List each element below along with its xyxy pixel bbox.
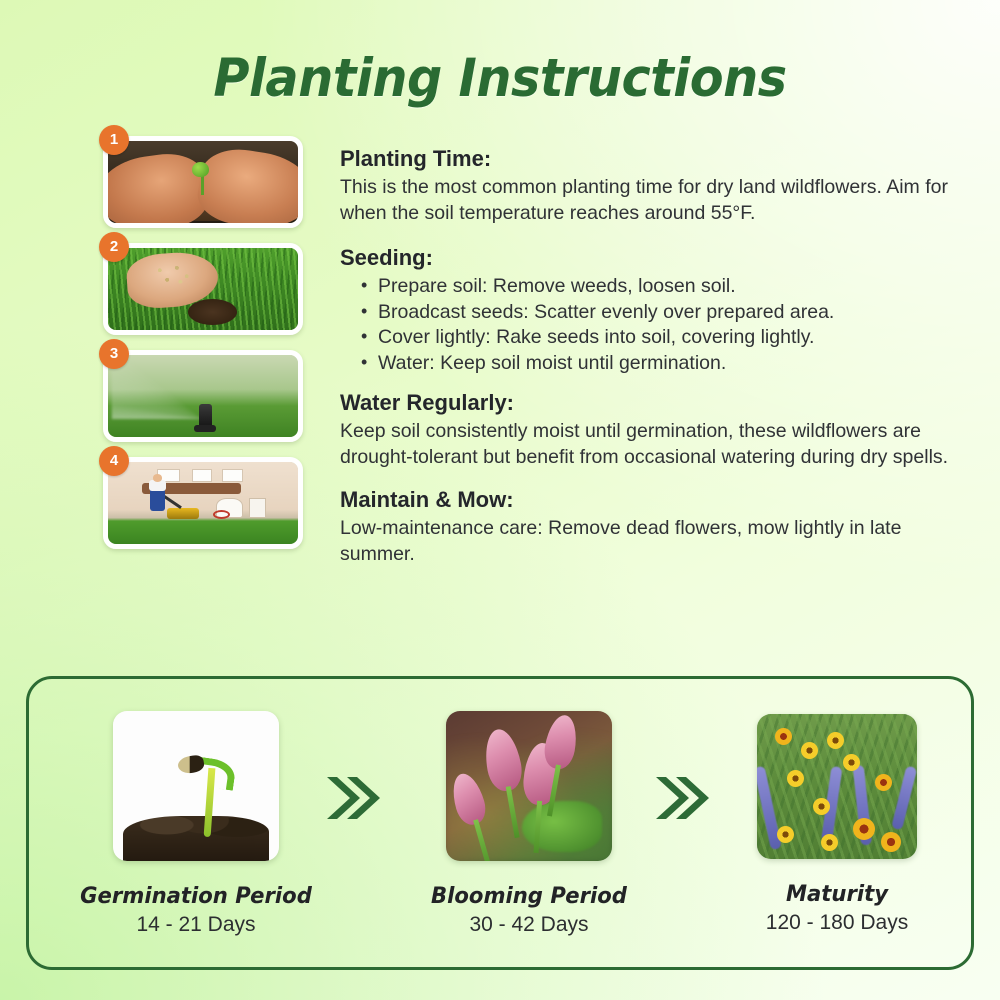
step-thumbnail-2: 2 [103, 243, 303, 335]
step-number-badge-3: 3 [99, 339, 129, 369]
person-mowing-lawn-by-house-image [103, 457, 303, 549]
step-thumbnail-column: 1 2 3 [103, 136, 313, 564]
step-body-1: This is the most common planting time fo… [340, 175, 950, 226]
timeline-label-blooming: Blooming Period [388, 883, 670, 909]
mowing-art [108, 462, 298, 544]
hands-holding-soil-with-sprout-image [103, 136, 303, 228]
step-section-planting-time: Planting Time: This is the most common p… [340, 144, 950, 226]
step-number-badge-2: 2 [99, 232, 129, 262]
steps-section: 1 2 3 [0, 136, 1000, 656]
step-section-maintain-mow: Maintain & Mow: Low-maintenance care: Re… [340, 485, 950, 567]
step-body-4: Low-maintenance care: Remove dead flower… [340, 516, 950, 567]
lawn-sprinkler-watering-image [103, 350, 303, 442]
step-section-seeding: Seeding: Prepare soil: Remove weeds, loo… [340, 243, 950, 376]
step-thumbnail-4: 4 [103, 457, 303, 549]
seeding-bullet-list: Prepare soil: Remove weeds, loosen soil.… [340, 274, 950, 376]
page-title: Planting Instructions [35, 48, 965, 110]
sprinkler-art [108, 355, 298, 437]
step-thumbnail-3: 3 [103, 350, 303, 442]
list-item: Broadcast seeds: Scatter evenly over pre… [378, 300, 950, 326]
step-section-water-regularly: Water Regularly: Keep soil consistently … [340, 388, 950, 470]
pink-lotus-flower-buds-image [446, 711, 612, 861]
mature-wildflower-meadow-image [757, 714, 917, 859]
timeline-duration-maturity: 120 - 180 Days [697, 911, 977, 935]
timeline-label-maturity: Maturity [705, 881, 968, 907]
planting-instructions-infographic: Planting Instructions 1 2 [0, 0, 1000, 1000]
list-item: Water: Keep soil moist until germination… [378, 351, 950, 377]
step-heading-4: Maintain & Mow: [340, 485, 950, 515]
step-heading-1: Planting Time: [340, 144, 950, 174]
timeline-stage-germination: Germination Period 14 - 21 Days [46, 711, 346, 937]
list-item: Prepare soil: Remove weeds, loosen soil. [378, 274, 950, 300]
hand-broadcasting-seeds-over-grass-image [103, 243, 303, 335]
double-chevron-right-icon [322, 769, 382, 827]
step-heading-3: Water Regularly: [340, 388, 950, 418]
timeline-label-germination: Germination Period [55, 883, 337, 909]
step-thumbnail-1: 1 [103, 136, 303, 228]
timeline-duration-germination: 14 - 21 Days [46, 913, 346, 937]
germinating-seed-sprout-image [113, 711, 279, 861]
growth-timeline-panel: Germination Period 14 - 21 Days Blooming… [26, 676, 974, 970]
step-heading-2: Seeding: [340, 243, 950, 273]
list-item: Cover lightly: Rake seeds into soil, cov… [378, 325, 950, 351]
step-number-badge-1: 1 [99, 125, 129, 155]
step-number-badge-4: 4 [99, 446, 129, 476]
timeline-stage-blooming: Blooming Period 30 - 42 Days [379, 711, 679, 937]
timeline-stage-maturity: Maturity 120 - 180 Days [697, 714, 977, 935]
seeding-art [108, 248, 298, 330]
hands-soil-art [108, 141, 298, 223]
step-body-3: Keep soil consistently moist until germi… [340, 419, 950, 470]
timeline-duration-blooming: 30 - 42 Days [379, 913, 679, 937]
step-text-column: Planting Time: This is the most common p… [340, 144, 950, 571]
